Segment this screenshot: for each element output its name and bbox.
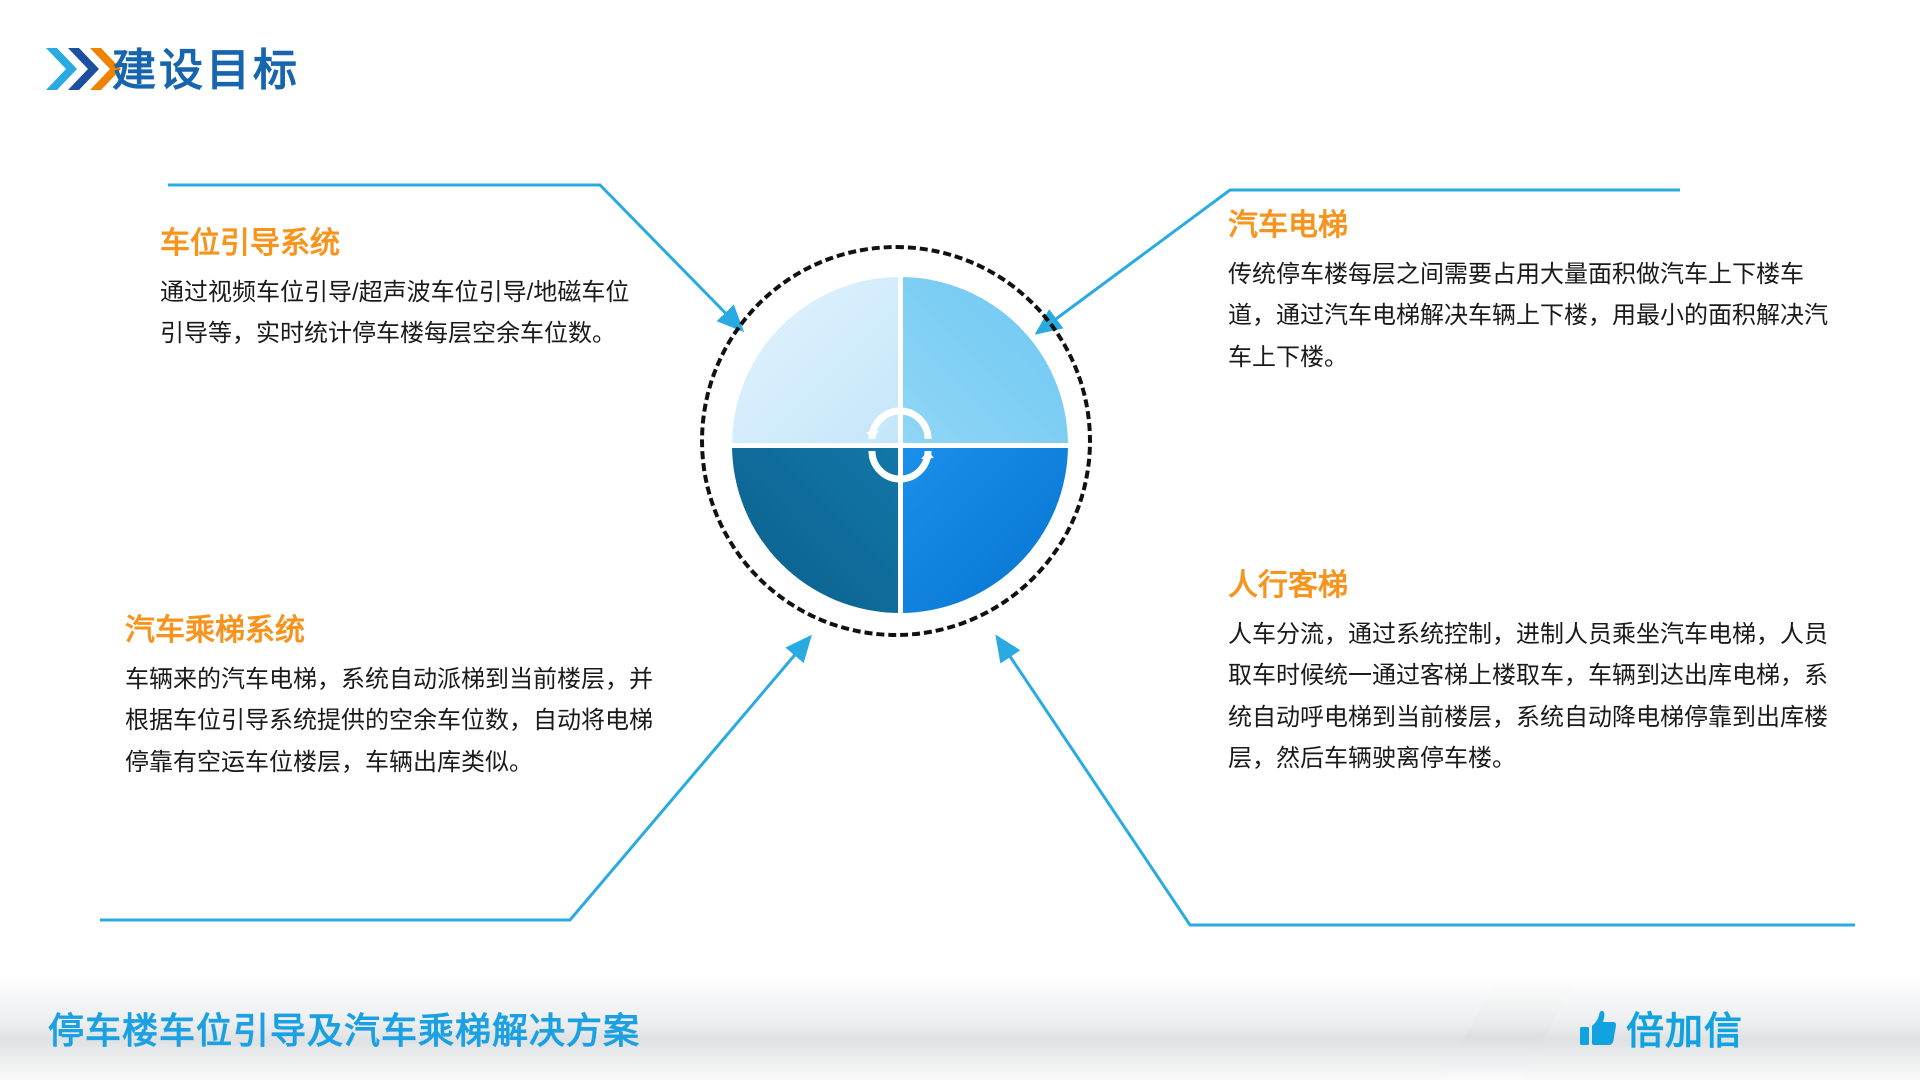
thumbs-up-icon (1578, 1007, 1620, 1049)
page-title: 建设目标 (112, 34, 300, 98)
footer-title: 停车楼车位引导及汽车乘梯解决方案 (48, 975, 640, 1080)
info-block-car-ride-system: 汽车乘梯系统 车辆来的汽车电梯，系统自动派梯到当前楼层，并根据车位引导系统提供的… (125, 605, 670, 783)
info-block-passenger-elevator: 人行客梯 人车分流，通过系统控制，进制人员乘坐汽车电梯，人员取车时候统一通过客梯… (1228, 560, 1843, 779)
brand-name: 倍加信 (1626, 1000, 1743, 1055)
block-title-car-ride-system: 汽车乘梯系统 (125, 605, 670, 649)
page-footer: 停车楼车位引导及汽车乘梯解决方案 倍加信 (0, 975, 1920, 1080)
info-block-car-elevator: 汽车电梯 传统停车楼每层之间需要占用大量面积做汽车上下楼车道，通过汽车电梯解决车… (1228, 200, 1838, 378)
block-title-passenger-elevator: 人行客梯 (1228, 560, 1843, 604)
block-body-car-elevator: 传统停车楼每层之间需要占用大量面积做汽车上下楼车道，通过汽车电梯解决车辆上下楼，… (1228, 254, 1838, 378)
block-body-passenger-elevator: 人车分流，通过系统控制，进制人员乘坐汽车电梯，人员取车时候统一通过客梯上楼取车，… (1228, 614, 1843, 779)
block-body-car-ride-system: 车辆来的汽车电梯，系统自动派梯到当前楼层，并根据车位引导系统提供的空余车位数，自… (125, 659, 670, 783)
block-body-parking-guidance: 通过视频车位引导/超声波车位引导/地磁车位引导等，实时统计停车楼每层空余车位数。 (160, 272, 630, 355)
block-title-car-elevator: 汽车电梯 (1228, 200, 1838, 244)
central-diagram (700, 245, 1100, 645)
recycle-arrows-icon (854, 399, 946, 491)
block-title-parking-guidance: 车位引导系统 (160, 218, 630, 262)
info-block-parking-guidance: 车位引导系统 通过视频车位引导/超声波车位引导/地磁车位引导等，实时统计停车楼每… (160, 218, 630, 355)
brand-logo[interactable]: 倍加信 (1578, 975, 1743, 1080)
page-header: 建设目标 (0, 0, 1920, 150)
